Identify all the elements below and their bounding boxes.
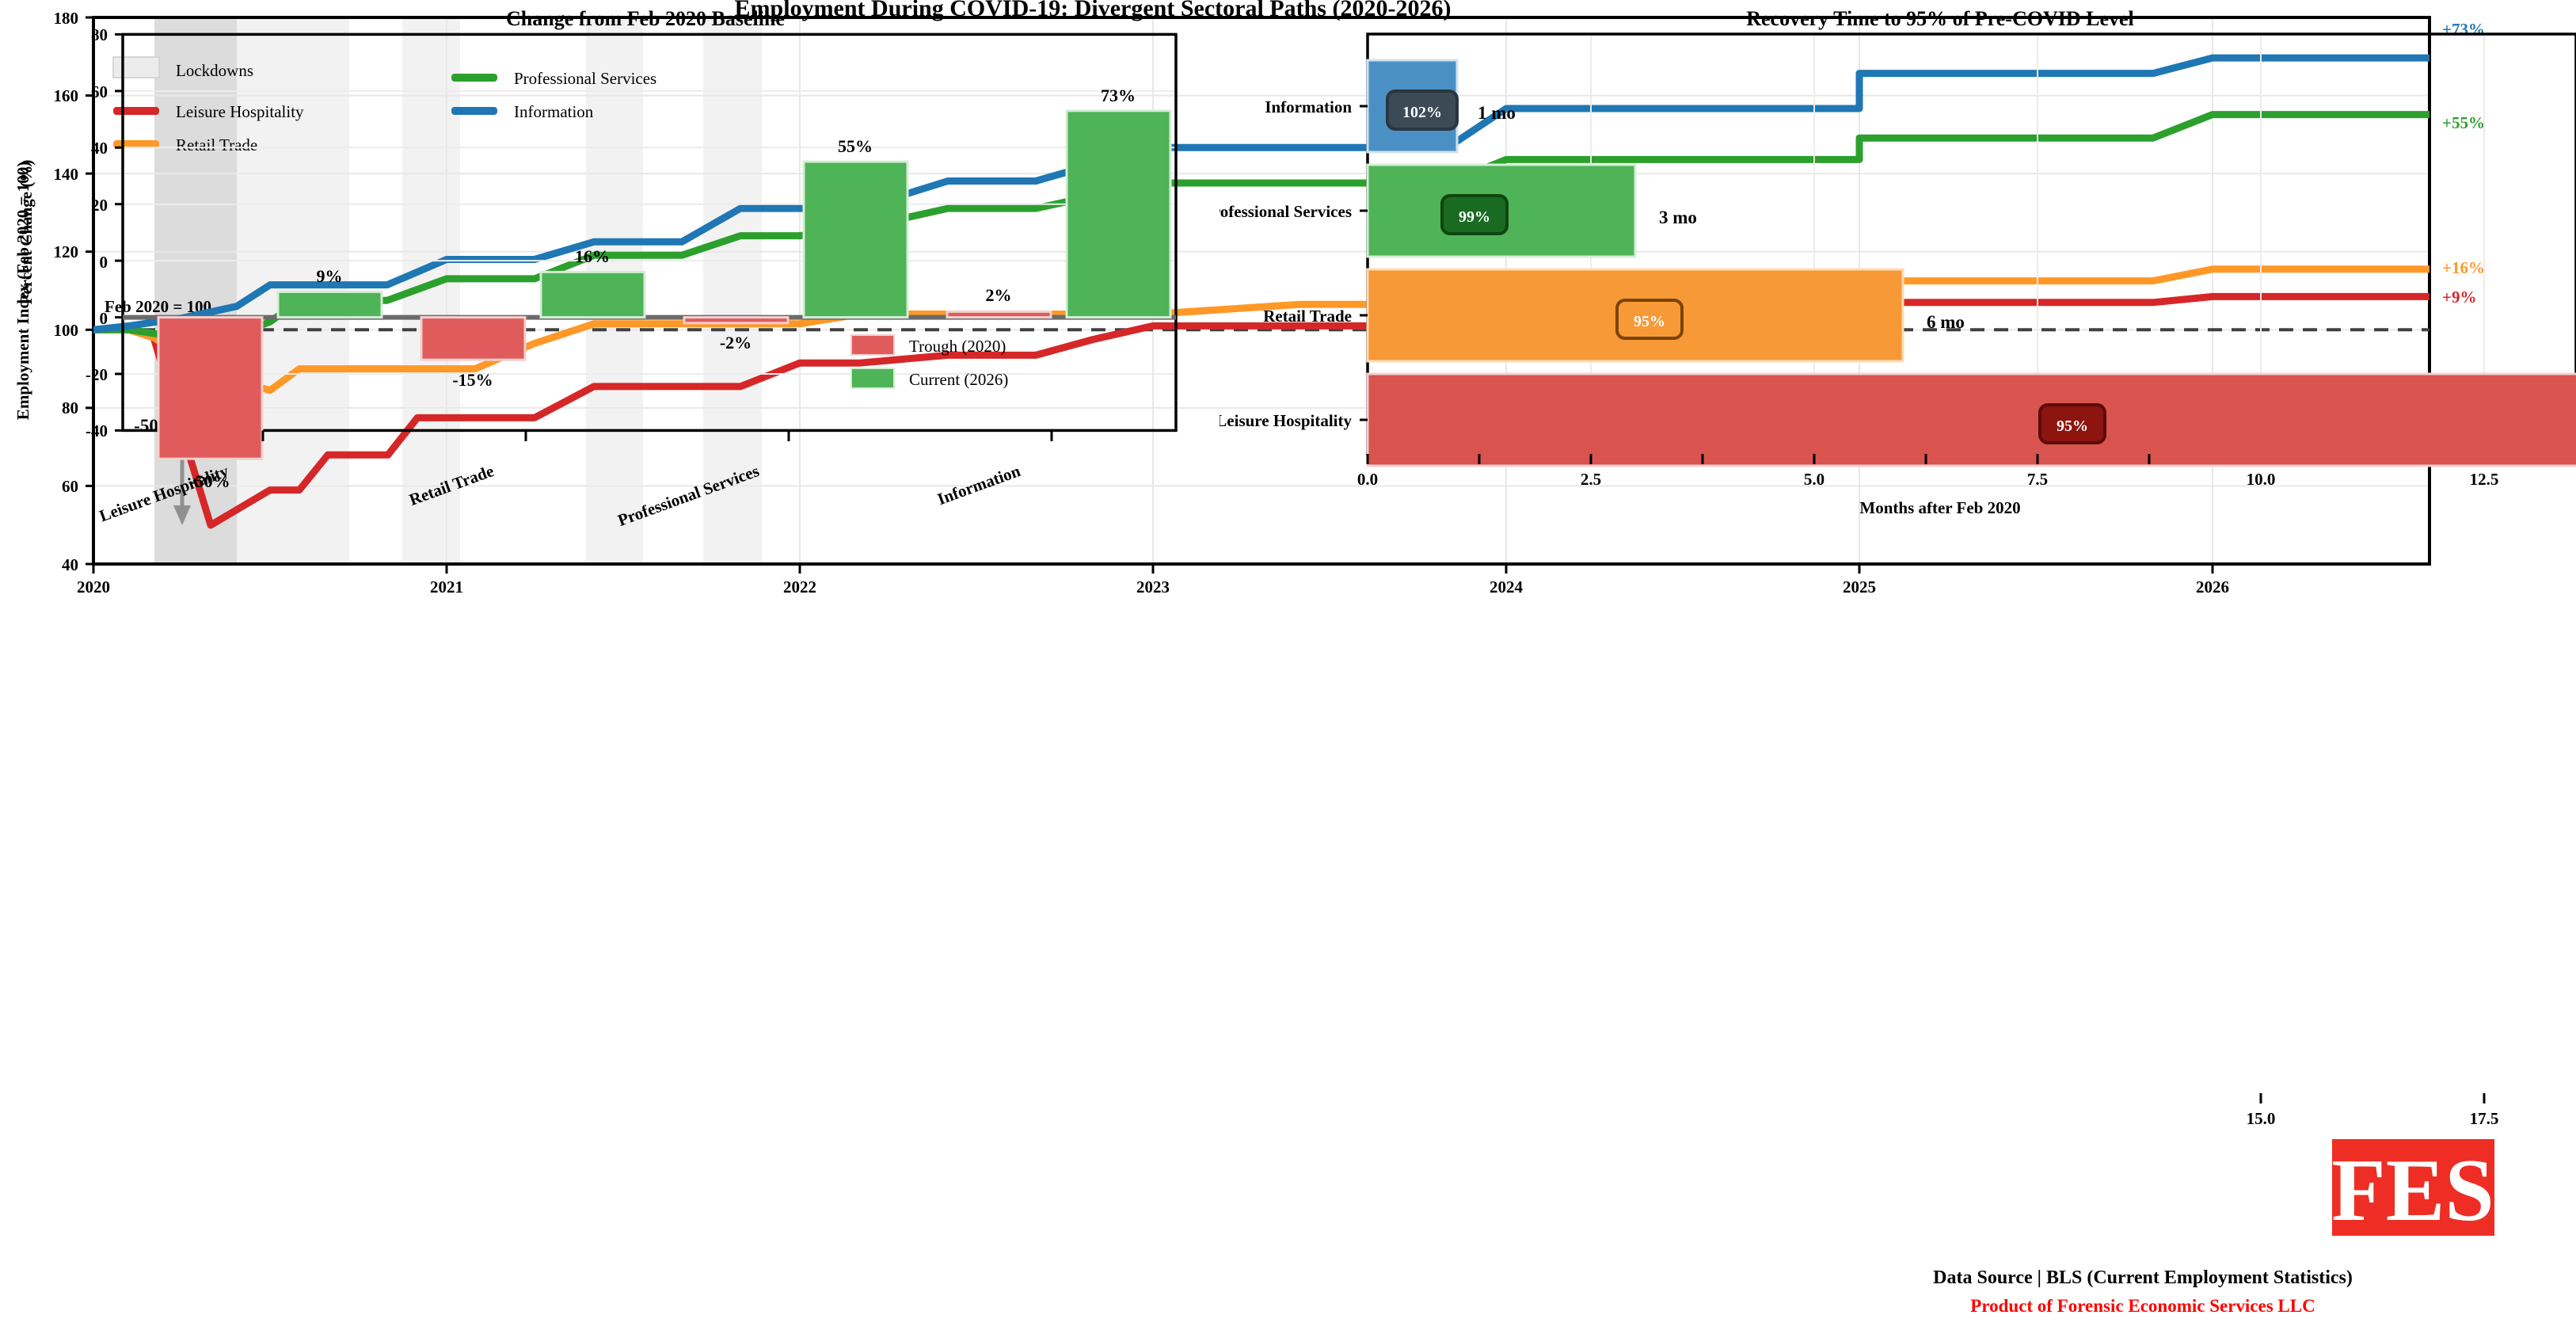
change-ytick-20: 20 (91, 196, 108, 215)
change-chart-legend: Trough (2020) Current (2026) (851, 335, 1008, 389)
main-xtick-2026: 2026 (2196, 577, 2229, 596)
recovery-xtick-17-5: 17.5 (2470, 1109, 2499, 1128)
change-y-axis-label: Percent Change (%) (17, 160, 36, 305)
recovery-xtick-5: 5.0 (1804, 470, 1825, 489)
recovery-badge-retail-trade: 95% (1617, 300, 1682, 338)
bar-label-trough-information: 2% (986, 285, 1012, 305)
bar-current-information (1067, 111, 1170, 318)
recovery-badge-professional-services: 99% (1442, 196, 1507, 234)
recovery-months-professional-services: 3 mo (1659, 208, 1697, 227)
recovery-xtick-7-5: 7.5 (2027, 470, 2048, 489)
recovery-xtick-10: 10.0 (2247, 470, 2276, 489)
bar-label-current-professional-services: 55% (838, 136, 873, 156)
fes-logo-text: FES (2332, 1142, 2494, 1236)
change-ytick-40: 40 (91, 139, 108, 158)
main-ytick-40: 40 (62, 555, 78, 574)
main-xtick-2020: 2020 (77, 577, 110, 596)
recovery-badge-text-leisure-hospitality: 95% (2057, 417, 2088, 435)
recovery-months-retail-trade: 6 mo (1927, 312, 1965, 332)
main-xtick-2023: 2023 (1136, 577, 1170, 596)
change-xtick-professional-services: Professional Services (615, 461, 762, 530)
legend-label-trough: Trough (2020) (909, 337, 1006, 356)
change-plot-frame (123, 34, 1176, 430)
change-xtick-leisure-hospitality: Leisure Hospitality (97, 461, 231, 525)
recovery-xtick-12-5: 12.5 (2470, 470, 2499, 489)
change-y-axis: 80 60 40 20 0 -20 -40 0 Percent Change (… (17, 25, 123, 440)
recovery-ytick-retail-trade: Retail Trade (1263, 307, 1352, 326)
recovery-bar-chart-panel: Recovery Time to 95% of Pre-COVID Level … (1220, 0, 2576, 539)
footer-product: Product of Forensic Economic Services LL… (1970, 1296, 2315, 1316)
recovery-extra-xticks: 15.0 17.5 (2138, 1093, 2576, 1141)
recovery-badge-text-retail-trade: 95% (1634, 313, 1665, 330)
fes-logo: FES (2332, 1139, 2494, 1236)
change-ytick-neg20: -20 (86, 365, 108, 384)
change-bar-chart-panel: Change from Feb 2020 Baseline -50% 9% -1… (0, 0, 1220, 539)
main-xtick-2024: 2024 (1490, 577, 1524, 596)
bar-label-current-information: 73% (1101, 86, 1136, 105)
main-xtick-2025: 2025 (1843, 577, 1876, 596)
recovery-badge-information: 102% (1387, 91, 1457, 129)
recovery-badge-leisure-hospitality: 95% (2040, 405, 2105, 443)
change-chart-title: Change from Feb 2020 Baseline (506, 7, 785, 30)
recovery-badge-text-information: 102% (1402, 104, 1442, 121)
change-gridlines (123, 34, 1176, 374)
recovery-bar-leisure-hospitality (1368, 374, 2576, 466)
recovery-bar-chart-svg: Recovery Time to 95% of Pre-COVID Level … (1220, 0, 2576, 539)
change-ytick-neg40: -40 (86, 421, 108, 440)
bar-label-current-leisure-hospitality: 9% (317, 266, 343, 286)
figure-footer: Data Source | BLS (Current Employment St… (1710, 1260, 2576, 1323)
main-x-axis: 2020 2021 2022 2023 2024 2025 2026 (77, 564, 2229, 596)
bar-label-trough-professional-services: -2% (720, 333, 751, 353)
recovery-xtick-2-5: 2.5 (1581, 470, 1601, 489)
legend-label-current: Current (2026) (909, 370, 1008, 389)
change-ytick-0: 0 (100, 309, 108, 328)
recovery-ytick-leisure-hospitality: Leisure Hospitality (1220, 411, 1352, 430)
bar-current-leisure-hospitality (278, 292, 382, 317)
footer-data-source: Data Source | BLS (Current Employment St… (1933, 1267, 2353, 1288)
bar-trough-information (947, 311, 1051, 317)
bar-label-trough-retail-trade: -15% (452, 370, 493, 390)
recovery-xtick-0: 0.0 (1357, 470, 1378, 489)
legend-swatch-current (851, 368, 894, 388)
change-xtick-information: Information (934, 461, 1023, 509)
change-bar-chart-svg: Change from Feb 2020 Baseline -50% 9% -1… (0, 0, 1220, 539)
bar-current-retail-trade (541, 272, 645, 317)
recovery-ytick-professional-services: Professional Services (1220, 202, 1352, 221)
recovery-y-axis: Information Professional Services Retail… (1220, 97, 1368, 430)
recovery-x-axis-label: Months after Feb 2020 (1859, 498, 2020, 517)
recovery-chart-title: Recovery Time to 95% of Pre-COVID Level (1746, 7, 2134, 30)
bar-trough-professional-services (684, 318, 788, 323)
recovery-ytick-information: Information (1265, 97, 1352, 116)
change-ytick-neg60-placeholder: 0 (100, 253, 108, 272)
bar-label-current-retail-trade: 16% (575, 246, 610, 266)
recovery-xtick-15: 15.0 (2247, 1109, 2276, 1128)
change-ytick-80: 80 (91, 25, 108, 44)
change-ytick-60: 60 (91, 82, 108, 101)
main-xtick-2021: 2021 (430, 577, 463, 596)
bar-trough-retail-trade (421, 318, 525, 360)
recovery-badge-text-professional-services: 99% (1459, 208, 1490, 226)
bar-trough-leisure-hospitality (158, 318, 262, 459)
change-xtick-retail-trade: Retail Trade (406, 461, 496, 509)
legend-swatch-trough (851, 335, 894, 355)
recovery-months-information: 1 mo (1478, 103, 1516, 123)
main-xtick-2022: 2022 (783, 577, 816, 596)
bar-current-professional-services (804, 162, 907, 318)
